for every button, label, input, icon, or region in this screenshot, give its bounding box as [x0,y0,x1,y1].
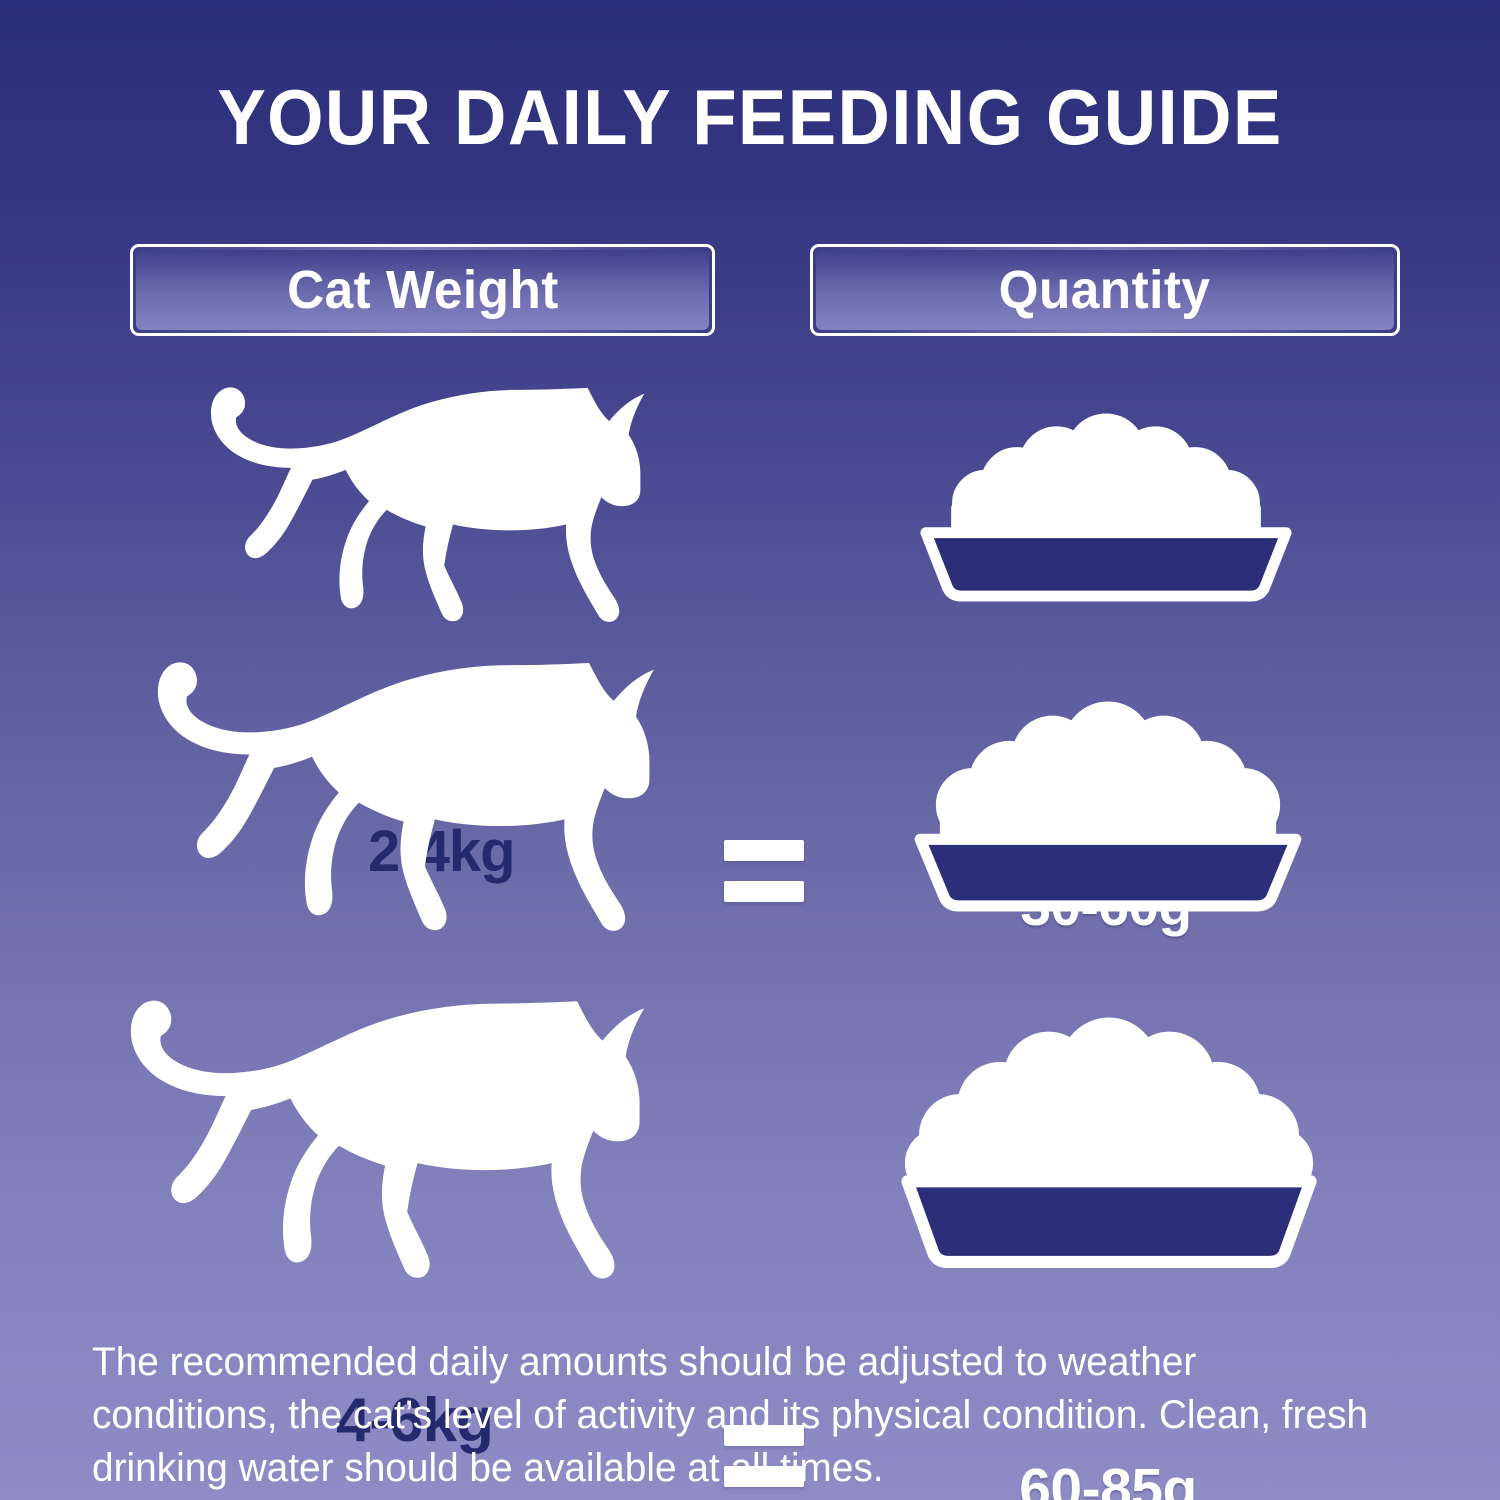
feeding-row: 2-4kg [0,378,1500,636]
cat-silhouette-icon [58,992,680,1288]
column-header-quantity: Quantity [810,244,1400,336]
cat-silhouette-icon [168,380,656,630]
food-bowl-icon [884,1010,1334,1270]
food-bowl-icon [898,412,1314,602]
cat-silhouette-icon [108,654,668,940]
feeding-row: 6-8kg [0,988,1500,1288]
column-header-quantity-label: Quantity [999,259,1211,321]
feeding-row: 4-6kg [0,650,1500,940]
footnote-text: The recommended daily amounts should be … [92,1336,1376,1494]
food-bowl-icon [892,700,1324,912]
page-title: YOUR DAILY FEEDING GUIDE [53,72,1448,163]
feeding-guide-infographic: YOUR DAILY FEEDING GUIDE Cat Weight Quan… [0,0,1500,1500]
column-header-cat-weight: Cat Weight [130,244,715,336]
column-header-cat-weight-label: Cat Weight [287,259,559,321]
